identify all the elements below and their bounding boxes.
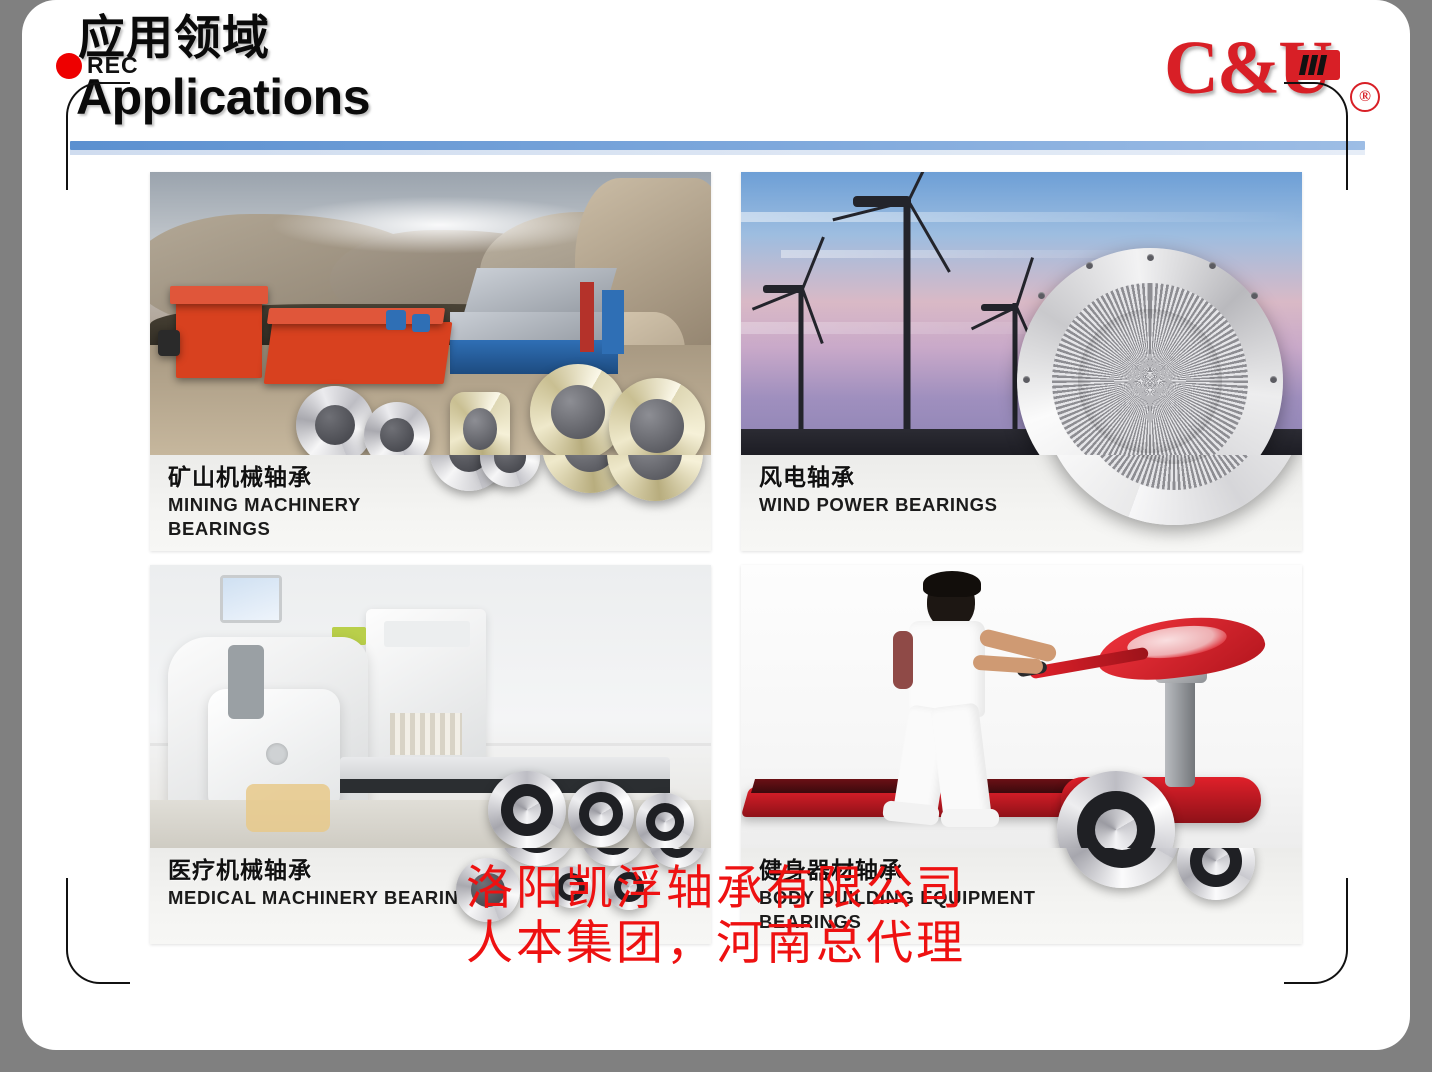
application-card-body-building[interactable]: 健身器材轴承 BODY BUILDING EQUIPMENT BEARINGS bbox=[741, 565, 1302, 944]
medical-caption: 医疗机械轴承 MEDICAL MACHINERY BEARINGS bbox=[150, 848, 711, 944]
application-card-medical[interactable]: 医疗机械轴承 MEDICAL MACHINERY BEARINGS bbox=[150, 565, 711, 944]
bracket-top-left bbox=[66, 82, 130, 146]
header-divider bbox=[70, 141, 1365, 150]
body-building-caption: 健身器材轴承 BODY BUILDING EQUIPMENT BEARINGS bbox=[741, 848, 1302, 944]
bracket-bottom-left bbox=[66, 920, 130, 984]
medical-machinery-photo bbox=[150, 565, 711, 848]
grid-row-2: 医疗机械轴承 MEDICAL MACHINERY BEARINGS bbox=[150, 565, 1302, 944]
bracket-top-right-stem bbox=[1346, 140, 1348, 190]
application-card-wind-power[interactable]: 风电轴承 WIND POWER BEARINGS bbox=[741, 172, 1302, 551]
wind-power-photo bbox=[741, 172, 1302, 455]
record-dot-icon bbox=[56, 53, 82, 79]
bars-icon bbox=[1286, 50, 1340, 80]
slide-header: 应用领域 Applications C&U ® bbox=[22, 0, 1410, 160]
card-title-english: MINING MACHINERY BEARINGS bbox=[168, 493, 711, 542]
screen-recording-indicator: REC bbox=[56, 52, 139, 79]
bracket-bottom-left-stem bbox=[66, 878, 68, 924]
body-building-equipment-photo bbox=[741, 565, 1302, 848]
application-card-mining[interactable]: 矿山机械轴承 MINING MACHINERY BEARINGS bbox=[150, 172, 711, 551]
record-label: REC bbox=[87, 52, 139, 79]
bracket-bottom-right-stem bbox=[1346, 878, 1348, 924]
slide-canvas: 应用领域 Applications C&U ® bbox=[22, 0, 1410, 1050]
bracket-top-right bbox=[1284, 82, 1348, 146]
mining-machinery-photo bbox=[150, 172, 711, 455]
wind-power-caption: 风电轴承 WIND POWER BEARINGS bbox=[741, 455, 1302, 551]
mining-caption: 矿山机械轴承 MINING MACHINERY BEARINGS bbox=[150, 455, 711, 551]
registered-trademark-icon: ® bbox=[1350, 82, 1380, 112]
grid-row-1: 矿山机械轴承 MINING MACHINERY BEARINGS bbox=[150, 172, 1302, 551]
bracket-top-left-stem bbox=[66, 140, 68, 190]
applications-grid: 矿山机械轴承 MINING MACHINERY BEARINGS bbox=[150, 172, 1302, 958]
